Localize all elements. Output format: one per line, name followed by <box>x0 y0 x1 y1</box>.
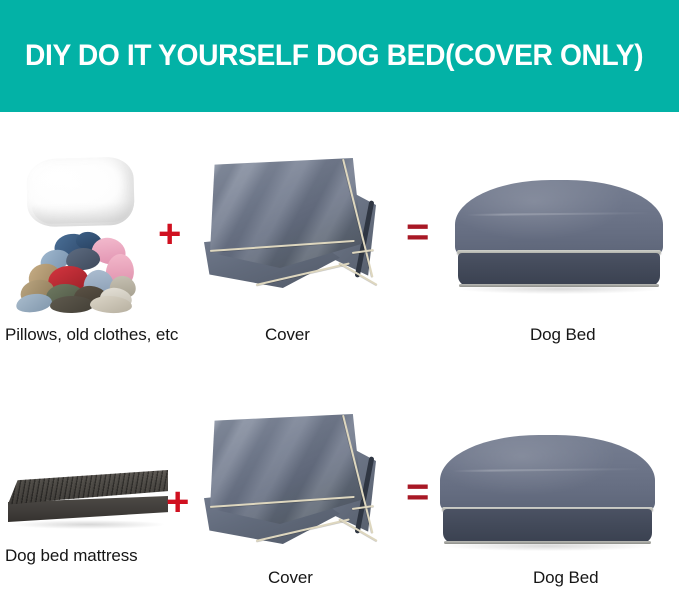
equals-sign-row1: = <box>406 212 429 252</box>
old-clothes-pile-image <box>14 232 142 314</box>
label-dog-bed-row1: Dog Bed <box>530 325 595 345</box>
dog-bed-image-row2 <box>440 435 655 547</box>
diy-dog-bed-infographic: DIY DO IT YOURSELF DOG BED(COVER ONLY) P… <box>0 0 679 603</box>
cover-image-row2 <box>202 408 380 560</box>
label-cover-row2: Cover <box>268 568 313 588</box>
dog-bed-mattress-image <box>8 470 168 526</box>
equals-sign-row2: = <box>406 472 429 512</box>
pillow-image <box>26 157 135 228</box>
page-title: DIY DO IT YOURSELF DOG BED(COVER ONLY) <box>25 41 643 71</box>
plus-sign-row1: + <box>158 214 181 254</box>
dog-bed-image-row1 <box>455 180 663 290</box>
label-cover-row1: Cover <box>265 325 310 345</box>
plus-sign-row2: + <box>166 482 189 522</box>
header-banner: DIY DO IT YOURSELF DOG BED(COVER ONLY) <box>0 0 679 112</box>
label-pillows-old-clothes: Pillows, old clothes, etc <box>5 325 178 345</box>
label-dog-bed-row2: Dog Bed <box>533 568 598 588</box>
cover-image-row1 <box>202 152 380 304</box>
label-dog-bed-mattress: Dog bed mattress <box>5 546 138 566</box>
